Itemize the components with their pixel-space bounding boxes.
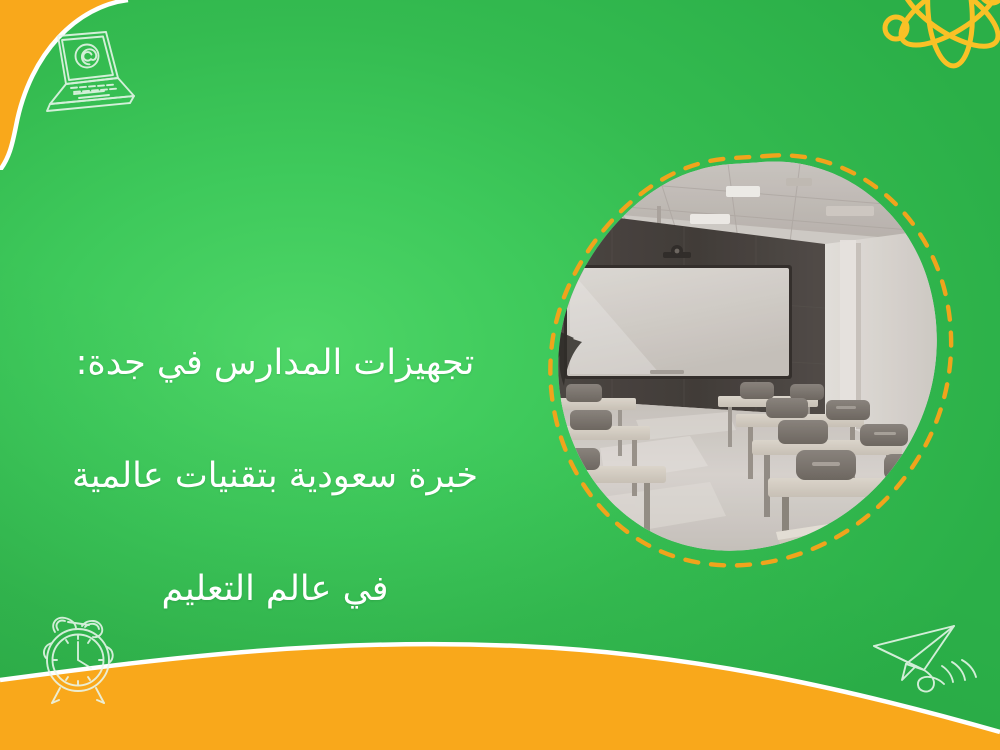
headline-line-3: في عالم التعليم <box>40 561 510 618</box>
laptop-email-icon <box>30 26 140 118</box>
poster-canvas: تجهيزات المدارس في جدة: خبرة سعودية بتقن… <box>0 0 1000 750</box>
paper-plane-icon <box>868 608 986 704</box>
headline: تجهيزات المدارس في جدة: خبرة سعودية بتقن… <box>40 278 510 675</box>
headline-line-1: تجهيزات المدارس في جدة: <box>40 335 510 392</box>
headline-line-2: خبرة سعودية بتقنيات عالمية <box>40 448 510 505</box>
classroom-photo <box>540 148 960 568</box>
photo-blob-container <box>540 148 960 568</box>
atom-icon <box>864 0 1000 100</box>
